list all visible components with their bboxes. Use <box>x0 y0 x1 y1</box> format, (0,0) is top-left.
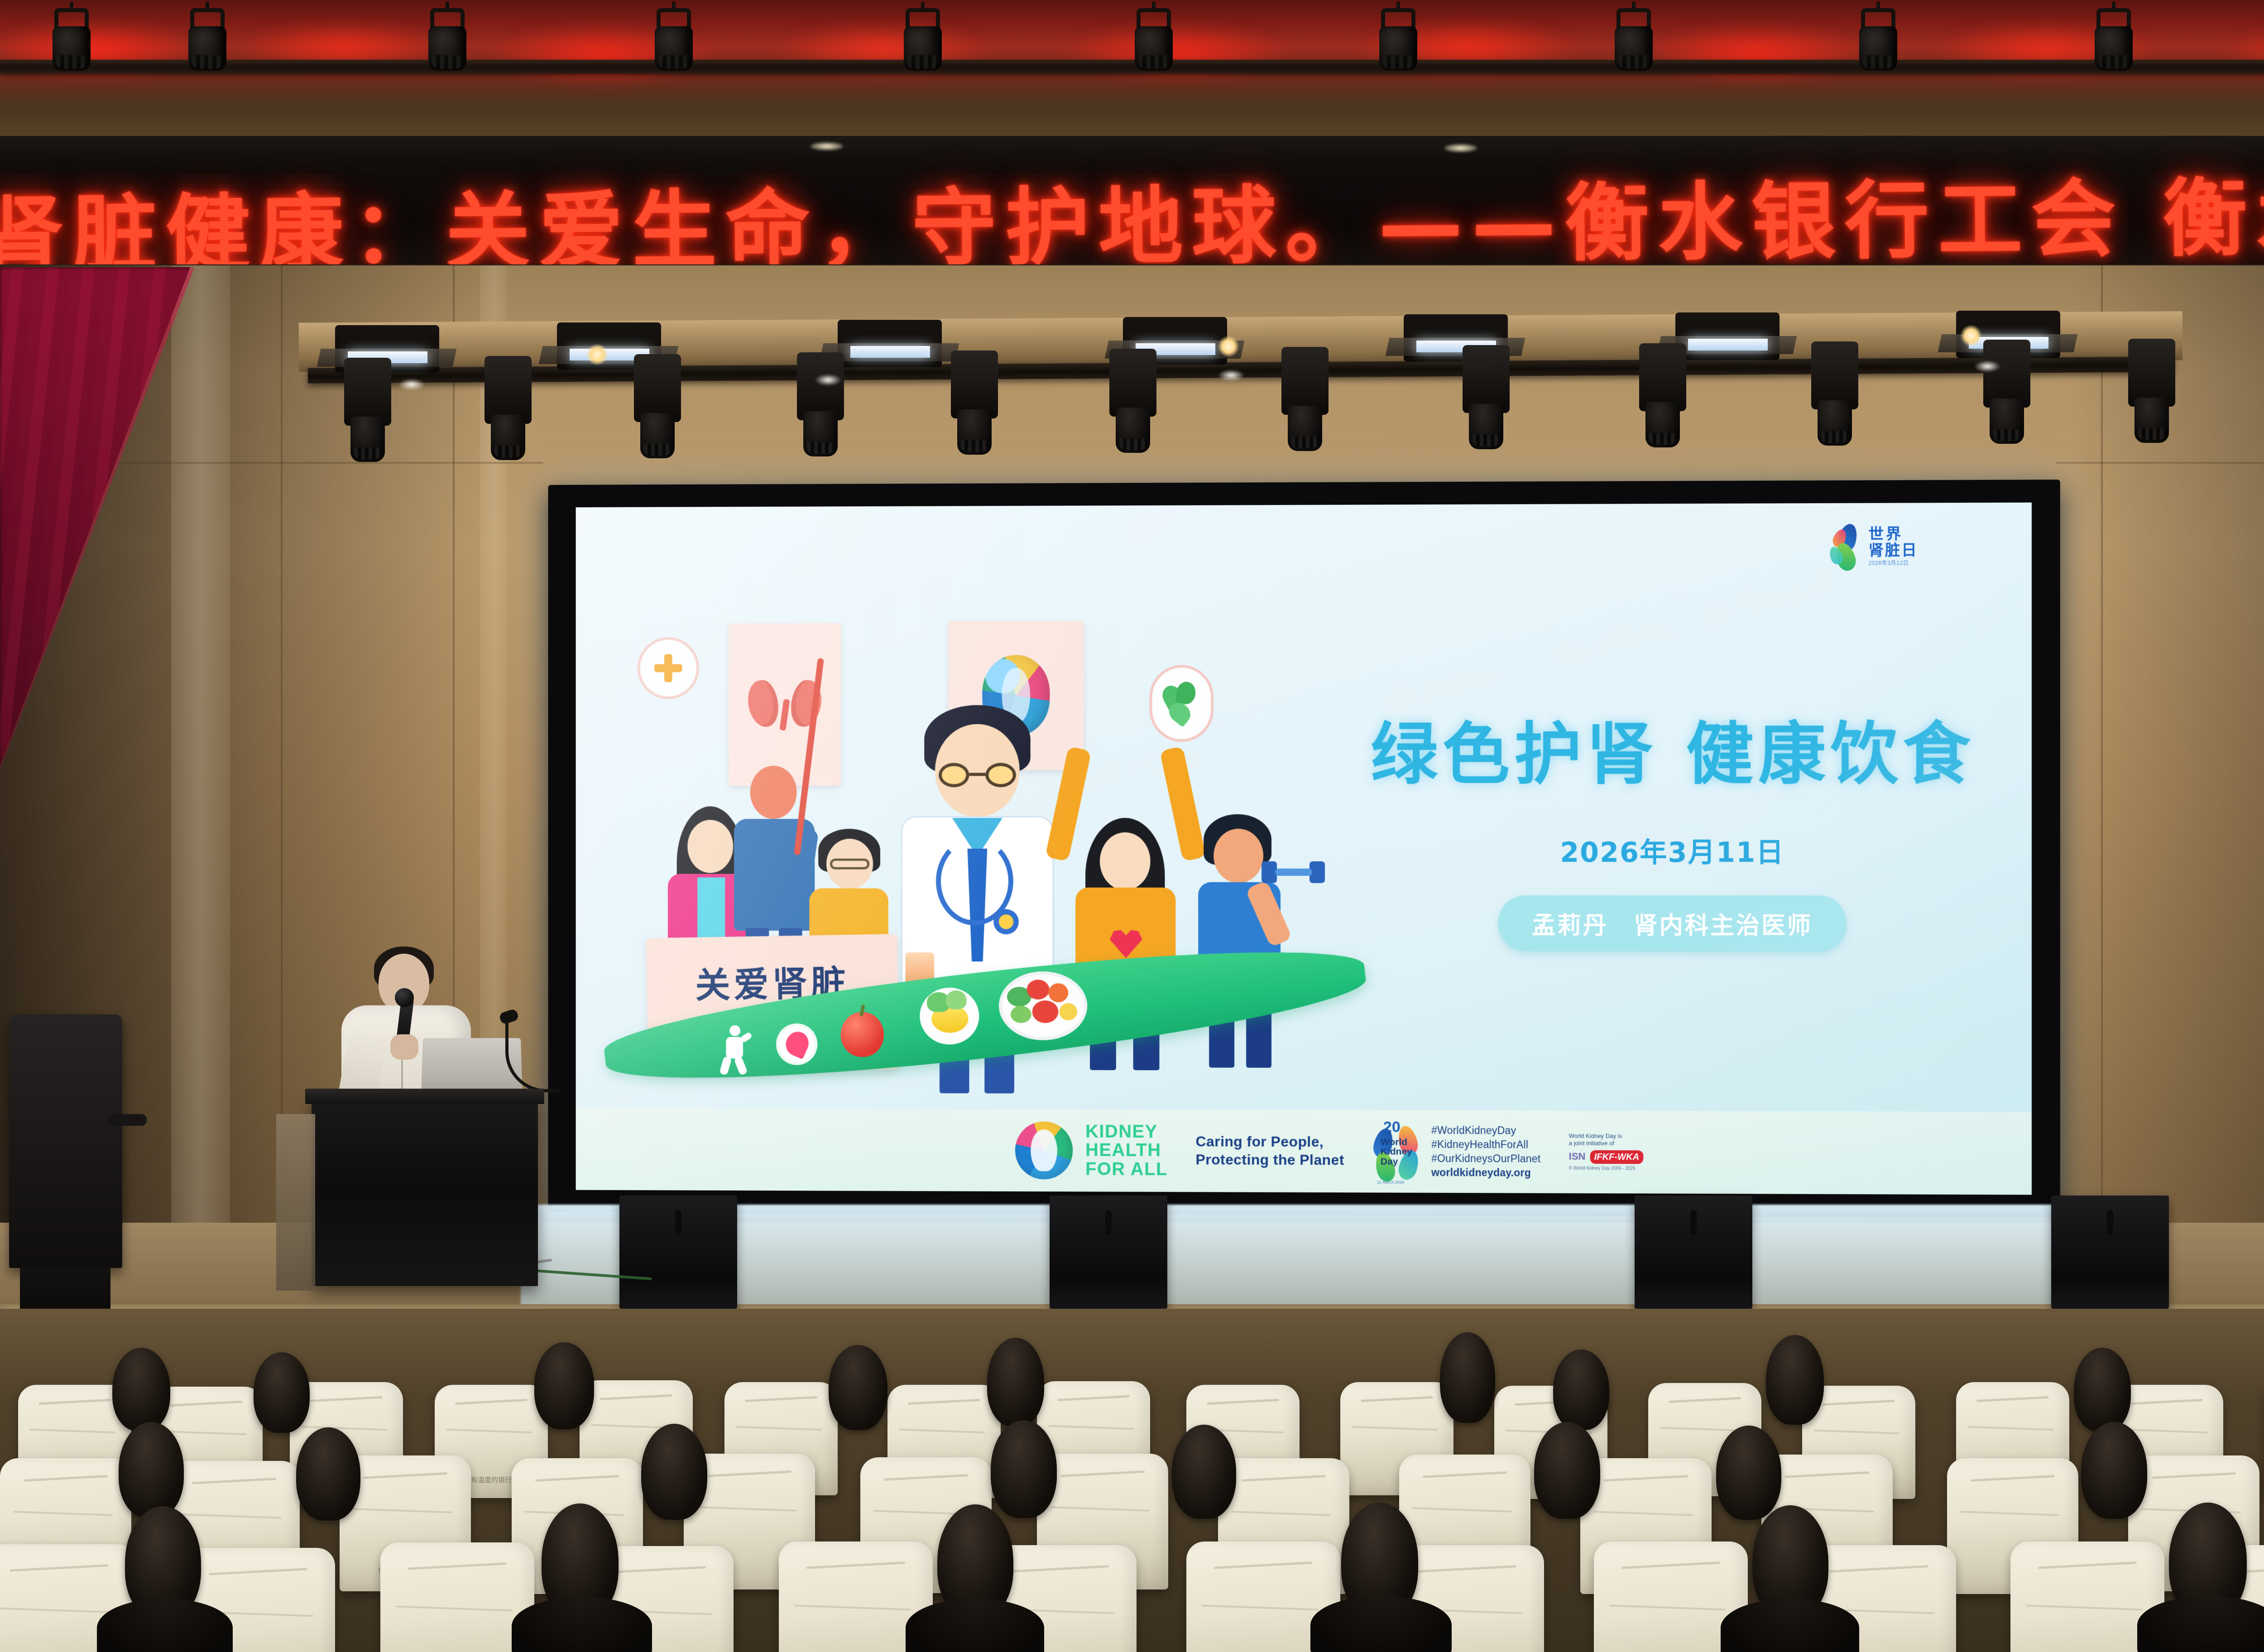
podium-gooseneck-microphone <box>505 1011 573 1093</box>
wkd-word1: World <box>1381 1138 1412 1148</box>
khfa-line3: FOR ALL <box>1085 1160 1168 1179</box>
head <box>1100 832 1151 890</box>
campaign-tagline: Caring for People, Protecting the Planet <box>1196 1133 1344 1169</box>
moving-head-light <box>797 352 844 456</box>
kidney-placard <box>729 623 840 786</box>
head <box>687 820 733 873</box>
audience-shoulders <box>1721 1599 1859 1652</box>
par-can-light <box>2092 8 2135 71</box>
slide-speaker-badge: 孟莉丹 肾内科主治医师 <box>1498 895 1847 951</box>
moving-head-light <box>2128 339 2175 443</box>
audience-head <box>2074 1348 2131 1432</box>
glasses-icon <box>830 859 869 869</box>
audience-head <box>1440 1332 1495 1423</box>
projection-screen-frame: 世界 肾脏日 2026年3月12日 <box>548 480 2060 1218</box>
audience-head <box>119 1422 184 1518</box>
led-banner-text: 肾脏健康：关爱生命，守护地球。——衡水银行工会 衡水市 <box>0 148 2264 267</box>
medicine-pill-icon <box>776 1023 817 1065</box>
leaf-icon <box>1161 682 1202 725</box>
microphone-head-icon <box>395 988 414 1007</box>
wkd-20-ribbon-icon: 20 World Kidney Day 12 March 2026 <box>1372 1118 1422 1184</box>
wave-band <box>600 929 1370 1100</box>
kidney-health-for-all-logo: KIDNEY HEALTH FOR ALL <box>1015 1121 1168 1180</box>
moving-head-light <box>1983 340 2030 444</box>
wkd-word2: Kidney <box>1381 1147 1412 1157</box>
moving-head-light <box>1639 343 1686 447</box>
fresnel-light <box>1675 312 1780 360</box>
healthy-lifestyle-wave <box>629 954 1331 1104</box>
stage-lamp-on <box>1961 325 1981 346</box>
moving-head-light <box>1463 345 1510 449</box>
stethoscope-bell <box>993 909 1019 935</box>
slide-illustration: 关爱肾脏 保护我们的地球 <box>629 616 1318 1096</box>
audience-head <box>296 1427 360 1521</box>
moving-head-light <box>484 356 532 460</box>
anniversary-number: 20 <box>1383 1118 1401 1136</box>
presentation-slide: 世界 肾脏日 2026年3月12日 <box>576 503 2032 1195</box>
slide-footer-logobar: KIDNEY HEALTH FOR ALL Caring for People,… <box>576 1108 2032 1195</box>
audience-shoulders <box>97 1599 233 1652</box>
audience-head <box>1553 1349 1609 1430</box>
ceiling-downlight <box>398 379 425 390</box>
led-scrolling-banner: 肾脏健康：关爱生命，守护地球。——衡水银行工会 衡水市 <box>0 136 2264 267</box>
audience-head <box>112 1348 170 1431</box>
audience-head <box>1766 1335 1824 1425</box>
banner-spot-light <box>811 142 843 150</box>
auditorium-scene: 肾脏健康：关爱生命，守护地球。——衡水银行工会 衡水市 <box>0 0 2264 1652</box>
slide-date: 2026年3月11日 <box>1349 831 1997 870</box>
kidney-globe-icon <box>1015 1121 1073 1179</box>
wkd-stacked-name: World Kidney Day <box>1381 1138 1412 1167</box>
tagline-line2: Protecting the Planet <box>1196 1151 1344 1169</box>
apple-icon <box>841 1012 884 1057</box>
par-can-light <box>426 8 469 71</box>
audience-shoulders <box>512 1597 652 1652</box>
wkd-word3: Day <box>1381 1157 1412 1167</box>
par-can-light <box>652 8 696 71</box>
wkd-logo-line1: 世界 <box>1869 526 1918 541</box>
joint-line1: World Kidney Day is <box>1569 1133 1643 1140</box>
moving-head-light <box>1811 341 1858 446</box>
podium-top-surface <box>305 1089 544 1104</box>
par-can-light <box>50 8 93 71</box>
audience-shoulders <box>906 1599 1044 1652</box>
moving-head-light <box>1281 347 1329 451</box>
hashtag-1: #WorldKidneyDay <box>1431 1124 1540 1138</box>
stage-monitor-speaker <box>1050 1196 1167 1309</box>
tagline-line1: Caring for People, <box>1196 1133 1344 1152</box>
wkd-logo-date: 2026年3月12日 <box>1869 559 1918 567</box>
audience-head <box>1172 1425 1236 1519</box>
campaign-hashtags: #WorldKidneyDay #KidneyHealthForAll #Our… <box>1431 1124 1540 1180</box>
par-can-light <box>186 8 229 71</box>
stage-apron-light-spill <box>521 1205 2060 1313</box>
chair <box>380 1542 534 1652</box>
stage-armchair <box>9 1014 122 1268</box>
moving-head-light <box>951 351 998 455</box>
par-can-light <box>1856 8 1900 71</box>
joint-line2: a joint initiative of <box>1569 1140 1643 1147</box>
khfa-line1: KIDNEY <box>1085 1122 1168 1141</box>
khfa-wordmark: KIDNEY HEALTH FOR ALL <box>1085 1122 1168 1179</box>
wkd-20-years-logo: 20 World Kidney Day 12 March 2026 #World… <box>1372 1118 1541 1185</box>
wall-seam <box>2101 265 2103 1216</box>
vegetable-badge <box>1150 665 1214 742</box>
stage-lamp-on <box>1218 336 1239 357</box>
dumbbell-icon <box>1262 861 1325 883</box>
par-can-light <box>1132 8 1175 71</box>
speaker-podium <box>312 1096 538 1286</box>
moving-head-light <box>344 358 391 462</box>
banner-spot-light <box>1444 144 1477 152</box>
khfa-line2: HEALTH <box>1085 1141 1168 1160</box>
ceiling-downlight <box>1974 360 2000 372</box>
ceiling-downlight <box>1218 370 1244 381</box>
audience-head <box>641 1424 707 1520</box>
ifkf-wka-logo: IFKF-WKA <box>1590 1150 1644 1163</box>
par-can-light <box>1612 8 1655 71</box>
audience-head <box>254 1352 310 1433</box>
wall-pillar-highlight <box>171 265 230 1262</box>
medical-cross-icon <box>654 654 682 682</box>
campaign-website: worldkidneyday.org <box>1431 1167 1531 1179</box>
medical-cross-badge <box>638 637 699 699</box>
fresnel-light <box>838 320 942 367</box>
audience-head <box>1534 1422 1600 1519</box>
ceiling-downlight <box>815 374 841 386</box>
slide-text-block: 绿色护肾 健康饮食 2026年3月11日 孟莉丹 肾内科主治医师 <box>1349 699 1997 952</box>
audience-area: 有温度的银行 你身边自己的银行 <box>0 1309 2264 1652</box>
lemon-vegetable-icon <box>920 988 979 1045</box>
copyright-text: © World Kidney Day 2006 - 2026 <box>1569 1166 1643 1172</box>
taichi-figure-icon <box>719 1025 750 1074</box>
audience-head <box>534 1342 594 1429</box>
wkd-footer-date: 12 March 2026 <box>1377 1180 1404 1185</box>
healthy-food-plate-icon <box>999 971 1087 1040</box>
presenter-hand <box>390 1034 418 1060</box>
head <box>750 766 797 819</box>
stage-monitor-speaker <box>619 1196 737 1309</box>
podium-side-panel <box>276 1114 315 1291</box>
world-kidney-day-corner-logo: 世界 肾脏日 2026年3月12日 <box>1827 518 1959 574</box>
wall-seam <box>281 265 283 1216</box>
audience-head <box>1716 1426 1781 1520</box>
audience-head <box>2081 1422 2147 1519</box>
audience-head <box>829 1345 887 1430</box>
ceiling <box>0 0 2264 136</box>
stage-monitor-speaker <box>2051 1196 2169 1309</box>
isn-logo: ISN <box>1569 1151 1586 1163</box>
moving-head-light <box>1109 349 1156 453</box>
par-can-light <box>1377 8 1420 71</box>
audience-head <box>991 1420 1057 1518</box>
wkd-ribbon-icon <box>1827 523 1862 570</box>
wall-seam <box>2056 462 2264 464</box>
audience-shoulders <box>1310 1596 1452 1652</box>
eyeglasses-icon <box>939 763 1016 788</box>
hashtag-2: #KidneyHealthForAll <box>1431 1138 1540 1152</box>
moving-head-light <box>634 354 681 458</box>
par-can-light <box>901 8 945 71</box>
wkd-logo-line2: 肾脏日 <box>1869 542 1918 557</box>
stage-monitor-speaker <box>1635 1196 1752 1309</box>
audience-head <box>987 1338 1044 1426</box>
joint-initiative-block: World Kidney Day is a joint initiative o… <box>1569 1133 1643 1172</box>
slide-title: 绿色护肾 健康饮食 <box>1349 699 1997 797</box>
stage-lamp-on <box>587 344 608 365</box>
head <box>1214 829 1263 883</box>
hashtag-3: #OurKidneysOurPlanet <box>1431 1152 1540 1166</box>
